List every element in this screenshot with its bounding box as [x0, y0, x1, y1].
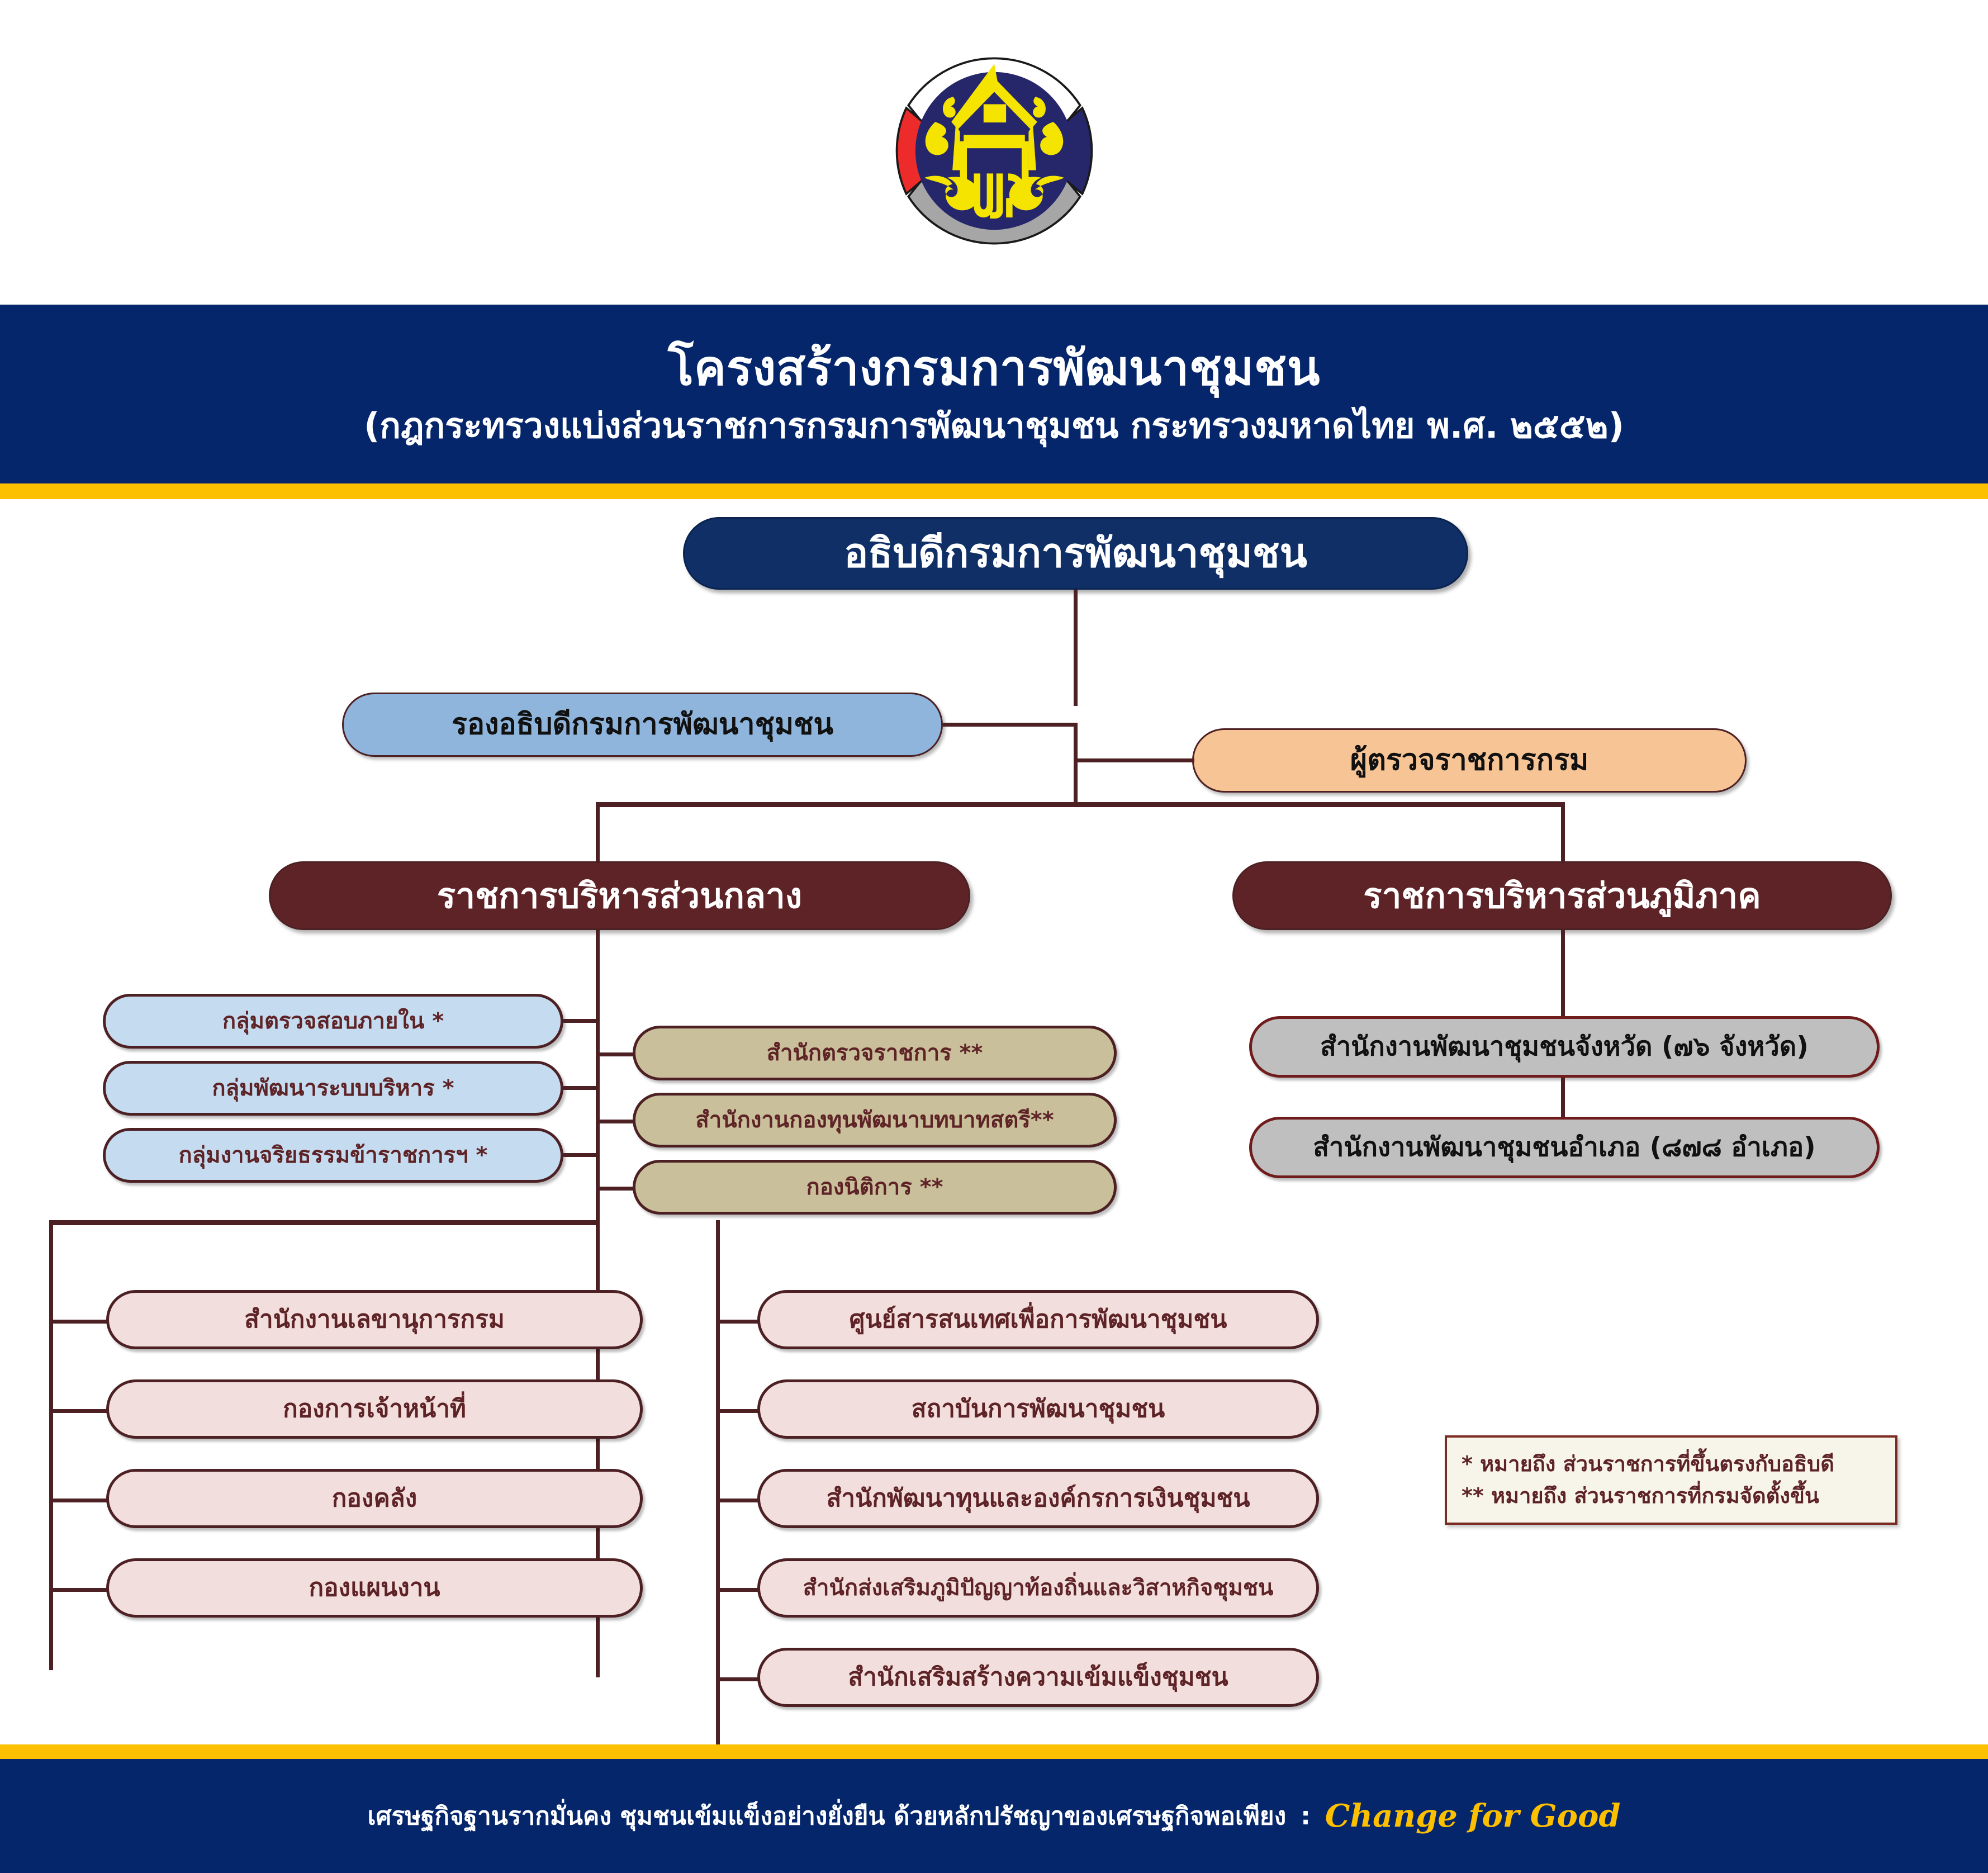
node-planning-division[interactable]: กองแผนงาน [106, 1558, 643, 1618]
connector-dg-down [1074, 590, 1078, 706]
node-provincial-cd-office[interactable]: สำนักงานพัฒนาชุมชนจังหวัด (๗๖ จังหวัด) [1249, 1016, 1880, 1078]
connector-information-center [716, 1320, 762, 1324]
page-subtitle: (กฎกระทรวงแบ่งส่วนราชการกรมการพัฒนาชุมชน… [364, 404, 1624, 448]
node-capital-and-community-finance-bureau[interactable]: สำนักพัฒนาทุนและองค์กรการเงินชุมชน [757, 1469, 1319, 1528]
node-internal-audit-group[interactable]: กลุ่มตรวจสอบภายใน * [103, 994, 563, 1049]
legend-line-1: * หมายถึง ส่วนราชการที่ขึ้นตรงกับอธิบดี [1462, 1451, 1881, 1478]
node-admin-system-development-group[interactable]: กลุ่มพัฒนาระบบบริหาร * [103, 1061, 563, 1116]
page-title: โครงสร้างกรมการพัฒนาชุมชน [668, 341, 1320, 396]
node-personnel-division[interactable]: กองการเจ้าหน้าที่ [106, 1379, 643, 1439]
connector-planning-division [49, 1588, 111, 1592]
node-local-wisdom-and-community-enterprise-bureau[interactable]: สำนักส่งเสริมภูมิปัญญาท้องถิ่นและวิสาหกิ… [757, 1558, 1319, 1618]
connector-to-regional-division [1561, 802, 1565, 865]
org-chart: อธิบดีกรมการพัฒนาชุมชน รองอธิบดีกรมการพั… [0, 499, 1988, 1744]
connector-finance-division [49, 1499, 111, 1502]
connector-legal-affairs-division [596, 1187, 634, 1191]
node-finance-division[interactable]: กองคลัง [106, 1469, 643, 1528]
connector-to-central-division [596, 802, 600, 865]
node-office-of-the-secretary[interactable]: สำนักงานเลขานุการกรม [106, 1290, 643, 1349]
node-regional-administration[interactable]: ราชการบริหารส่วนภูมิภาค [1232, 861, 1892, 930]
node-inspector-general[interactable]: ผู้ตรวจราชการกรม [1192, 728, 1747, 793]
connector-secretariat [49, 1320, 111, 1324]
legend-line-2: ** หมายถึง ส่วนราชการที่กรมจัดตั้งขึ้น [1462, 1483, 1881, 1510]
connector-cd-institute [716, 1409, 762, 1413]
footer-slogan: Change for Good [1325, 1798, 1621, 1834]
node-legal-affairs-division[interactable]: กองนิติการ ** [633, 1160, 1117, 1215]
connector-womens-fund-office [596, 1120, 634, 1123]
footer-separator: : [1301, 1802, 1311, 1831]
header-banner: โครงสร้างกรมการพัฒนาชุมชน (กฎกระทรวงแบ่ง… [0, 305, 1988, 483]
connector-admin-system [563, 1086, 598, 1090]
connector-regional-spine [1561, 930, 1565, 1018]
node-director-general[interactable]: อธิบดีกรมการพัฒนาชุมชน [683, 517, 1468, 590]
footer-accent-rule [0, 1744, 1988, 1759]
connector-personnel-division [49, 1409, 111, 1413]
connector-internal-audit [563, 1019, 598, 1023]
cdd-emblem-icon [860, 17, 1128, 285]
logo-area [0, 11, 1988, 291]
connector-bracket-top [49, 1220, 600, 1225]
node-community-development-information-center[interactable]: ศูนย์สารสนเทศเพื่อการพัฒนาชุมชน [757, 1290, 1319, 1349]
connector-inspection-bureau [596, 1052, 634, 1056]
footer-motto: เศรษฐกิจฐานรากมั่นคง ชุมชนเข้มแข็งอย่างย… [368, 1796, 1287, 1836]
node-district-cd-office[interactable]: สำนักงานพัฒนาชุมชนอำเภอ (๘๗๘ อำเภอ) [1249, 1117, 1880, 1178]
connector-division-crossbar [596, 802, 1565, 807]
node-womens-fund-office[interactable]: สำนักงานกองทุนพัฒนาบทบาทสตรี** [633, 1093, 1117, 1147]
connector-provincial-to-district [1561, 1078, 1565, 1118]
node-community-strengthening-bureau[interactable]: สำนักเสริมสร้างความเข้มแข็งชุมชน [757, 1648, 1319, 1707]
footer-bar: เศรษฐกิจฐานรากมั่นคง ชุมชนเข้มแข็งอย่างย… [0, 1759, 1988, 1873]
node-deputy-director-general[interactable]: รองอธิบดีกรมการพัฒนาชุมชน [342, 693, 943, 757]
connector-community-strength-bureau [716, 1677, 762, 1681]
node-inspection-bureau[interactable]: สำนักตรวจราชการ ** [633, 1026, 1117, 1080]
connector-deputy-to-spine [943, 723, 1076, 727]
header-accent-rule [0, 483, 1988, 499]
node-community-development-institute[interactable]: สถาบันการพัฒนาชุมชน [757, 1379, 1319, 1439]
connector-spine-lower [1074, 723, 1078, 804]
connector-ethics-group [563, 1153, 598, 1157]
legend-box: * หมายถึง ส่วนราชการที่ขึ้นตรงกับอธิบดี … [1445, 1435, 1897, 1525]
node-civil-service-ethics-group[interactable]: กลุ่มงานจริยธรรมข้าราชการฯ * [103, 1128, 563, 1183]
connector-capital-finance-bureau [716, 1499, 762, 1502]
node-central-administration[interactable]: ราชการบริหารส่วนกลาง [269, 861, 970, 930]
connector-bracket-left-rail [49, 1220, 53, 1670]
connector-inspector-to-spine [1074, 758, 1194, 762]
connector-local-wisdom-bureau [716, 1588, 762, 1592]
